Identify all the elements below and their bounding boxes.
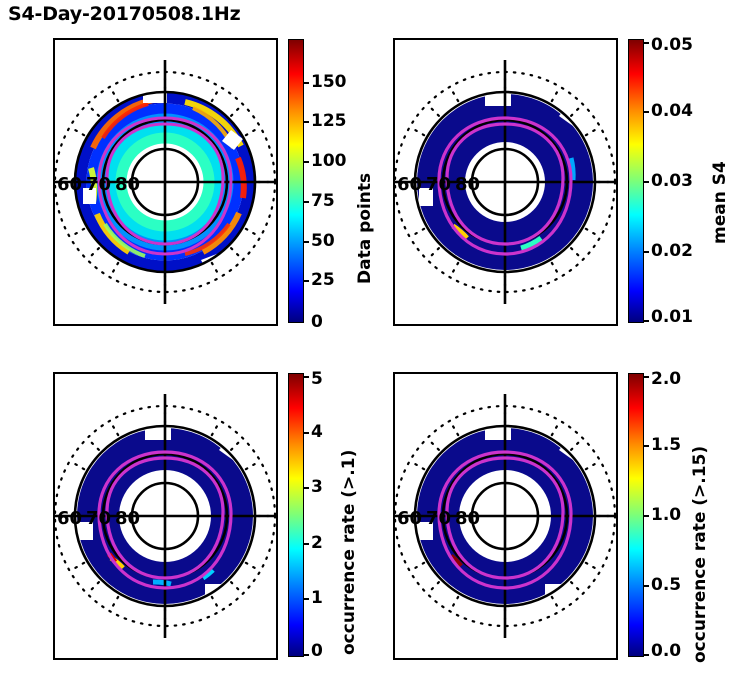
figure-canvas: S4-Day-20170508.1Hz [0,0,731,674]
polar-plot-mean-s4: 60 70 80 [393,38,618,326]
latitude-labels: 60 70 80 [397,508,480,529]
cbar-tick-1: 1 [311,588,323,608]
colorbar-occurrence-gt-point1: 5 4 3 2 1 0 occurrence rate (>.1) [288,373,304,657]
cbar-tick-75: 75 [311,191,335,211]
colorbar-gradient [288,39,304,323]
cbar-tick-3: 3 [311,477,323,497]
panel-occurrence-rate-gt-point1: 60 70 80 [53,372,278,660]
polar-plot-occurrence-gt-point1: 60 70 80 [53,372,278,660]
latitude-labels: 60 70 80 [397,174,480,195]
panel-data-points: 60 70 80 [53,38,278,326]
figure-title: S4-Day-20170508.1Hz [8,3,240,25]
lat-label-70: 70 [426,174,451,195]
colorbar-mean-s4: 0.05 0.04 0.03 0.02 0.01 mean S4 [628,39,644,323]
cbar-tick-150: 150 [311,72,347,92]
lat-label-80: 80 [455,174,480,195]
cbar-tick-20: 2.0 [651,369,681,389]
latitude-labels: 60 70 80 [57,508,140,529]
lat-label-70: 70 [86,174,111,195]
polar-plot-data-points: 60 70 80 [53,38,278,326]
cbar-tick-2: 2 [311,533,323,553]
colorbar-gradient [628,373,644,657]
cbar-tick-5: 5 [311,369,323,389]
cbar-tick-50: 50 [311,231,335,251]
lat-label-80: 80 [455,508,480,529]
cbar-tick-25: 25 [311,270,335,290]
latitude-labels: 60 70 80 [57,174,140,195]
lat-label-60: 60 [57,508,82,529]
colorbar-label-occurrence-gt-point15: occurrence rate (>.15) [690,446,710,663]
cbar-tick-005: 0.05 [651,35,693,55]
colorbar-data-points: 150 125 100 75 50 25 0 Data points [288,39,304,323]
cbar-tick-002: 0.02 [651,241,693,261]
cbar-tick-100: 100 [311,151,347,171]
cbar-tick-004: 0.04 [651,101,693,121]
cbar-tick-10: 1.0 [651,505,681,525]
cbar-tick-4: 4 [311,422,323,442]
cbar-tick-0: 0 [311,312,323,332]
cbar-tick-15: 1.5 [651,435,681,455]
colorbar-label-occurrence-gt-point1: occurrence rate (>.1) [339,450,359,655]
colorbar-occurrence-gt-point15: 2.0 1.5 1.0 0.5 0.0 occurrence rate (>.1… [628,373,644,657]
colorbar-label-data-points: Data points [355,173,375,284]
cbar-tick-125: 125 [311,111,347,131]
panel-mean-s4: 60 70 80 [393,38,618,326]
lat-label-70: 70 [426,508,451,529]
lat-label-80: 80 [115,508,140,529]
colorbar-label-mean-s4: mean S4 [710,161,730,244]
cbar-tick-05: 0.5 [651,575,681,595]
cbar-tick-001: 0.01 [651,307,693,327]
lat-label-80: 80 [115,174,140,195]
cbar-tick-003: 0.03 [651,171,693,191]
lat-label-60: 60 [57,174,82,195]
lat-label-70: 70 [86,508,111,529]
lat-label-60: 60 [397,508,422,529]
polar-plot-occurrence-gt-point15: 60 70 80 [393,372,618,660]
panel-occurrence-rate-gt-point15: 60 70 80 [393,372,618,660]
cbar-tick-00: 0.0 [651,641,681,661]
cbar-tick-0: 0 [311,641,323,661]
colorbar-gradient [628,39,644,323]
lat-label-60: 60 [397,174,422,195]
colorbar-gradient [288,373,304,657]
